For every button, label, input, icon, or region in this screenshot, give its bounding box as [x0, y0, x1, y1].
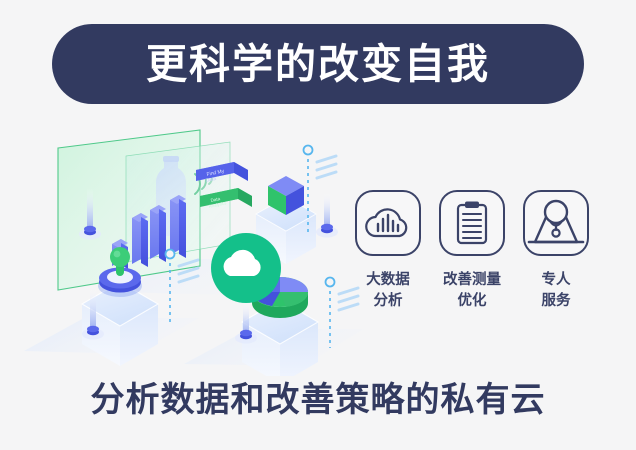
- tagline-text: 分析数据和改善策略的私有云: [0, 382, 636, 419]
- promo-poster: 更科学的改变自我: [0, 0, 636, 450]
- banner-title-text: 更科学的改变自我: [146, 44, 490, 85]
- feature-label-big-data: 大数据 分析: [366, 270, 410, 312]
- feature-item-measurement[interactable]: 改善测量 优化: [436, 190, 508, 312]
- cloud-bar-chart-icon: [355, 190, 421, 256]
- title-banner: 更科学的改变自我: [52, 24, 584, 104]
- doctor-person-icon: [523, 190, 589, 256]
- gradient-pin-stem: [316, 192, 338, 238]
- cloud-badge: [211, 233, 281, 303]
- feature-item-big-data[interactable]: 大数据 分析: [352, 190, 424, 312]
- feature-label-measurement: 改善测量 优化: [443, 270, 501, 312]
- feature-item-specialist[interactable]: 专人 服务: [520, 190, 592, 312]
- isometric-illustration: Find My Data Data Analytics: [24, 126, 364, 376]
- feature-list: 大数据 分析 改善测量 优化: [352, 190, 592, 312]
- feature-label-specialist: 专人 服务: [542, 270, 571, 312]
- clipboard-lines-icon: [439, 190, 505, 256]
